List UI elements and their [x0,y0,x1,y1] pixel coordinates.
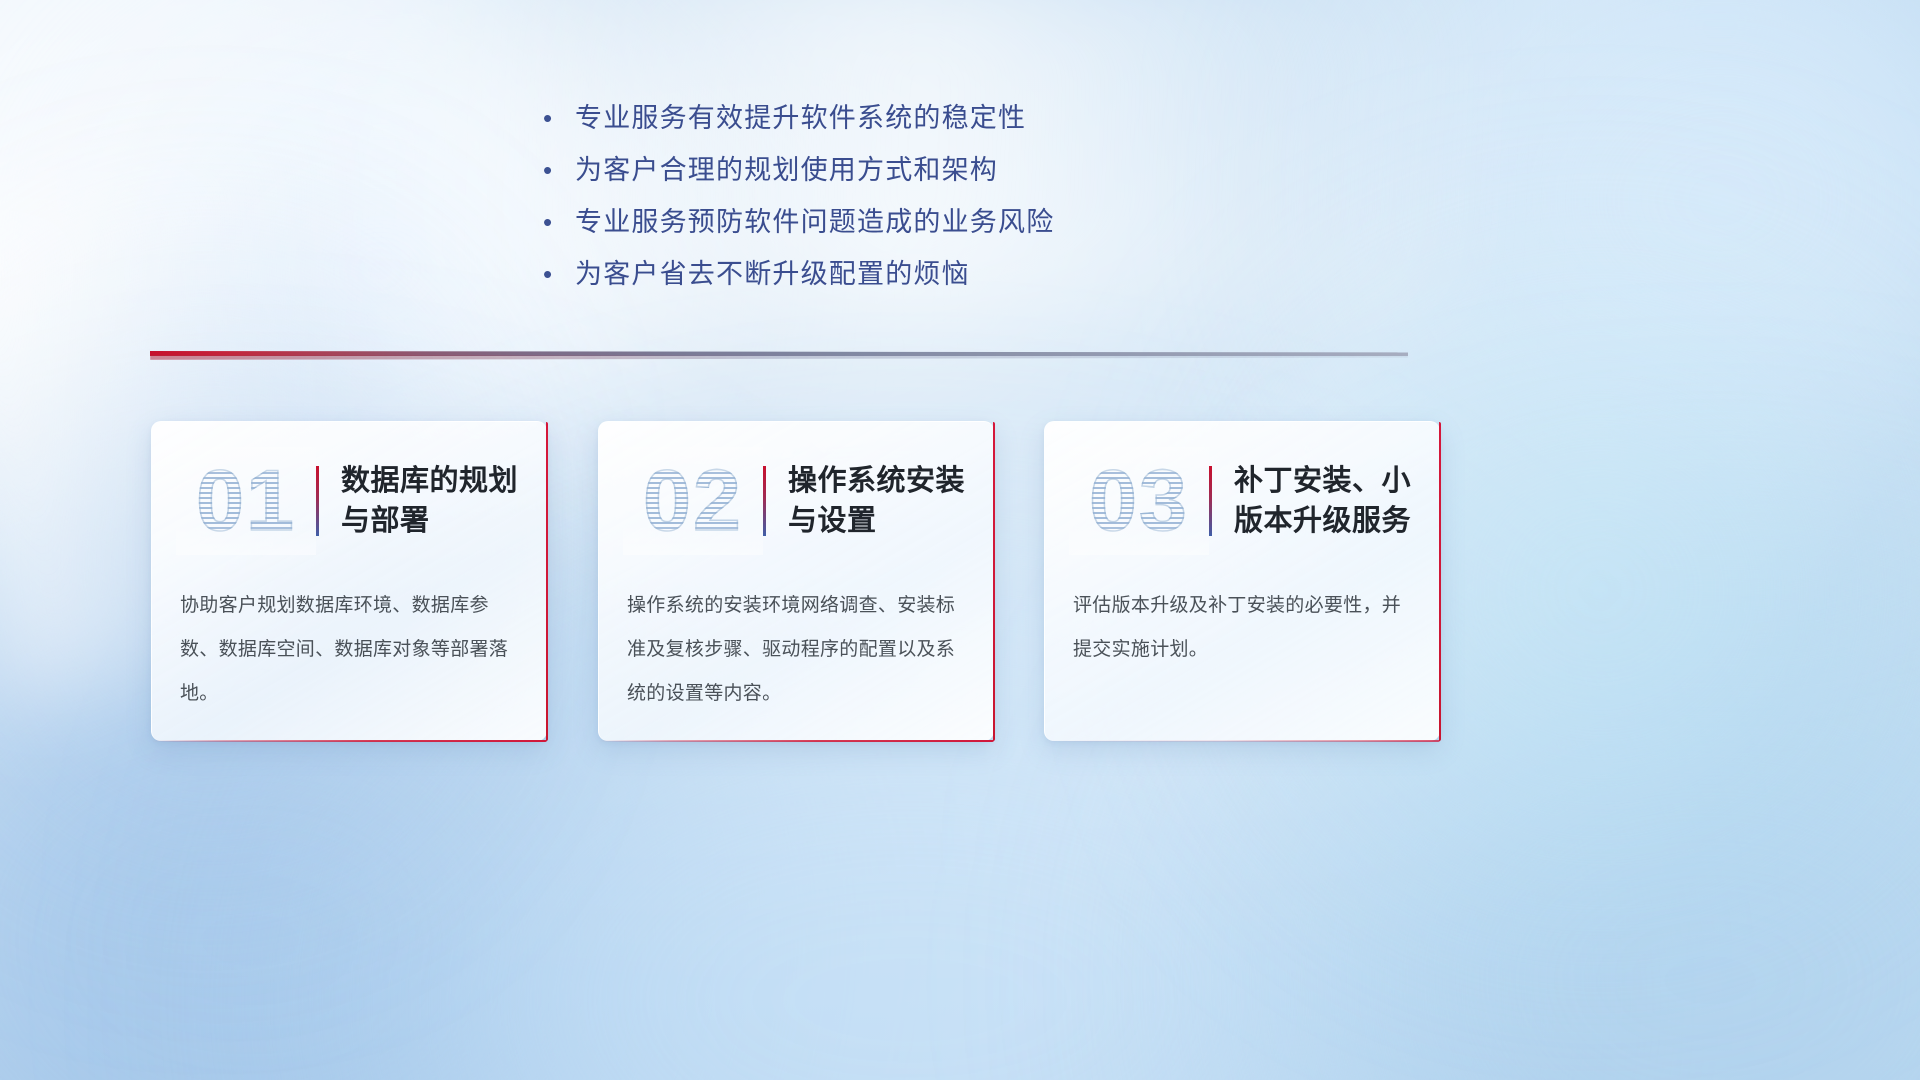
service-card-02[interactable]: 02 操作系统安装与设置 操作系统的安装环境网络调查、安装标准及复核步骤、驱动程… [598,421,994,741]
benefits-bullet-list: • 专业服务有效提升软件系统的稳定性 • 为客户合理的规划使用方式和架构 • 专… [535,92,1235,300]
list-item: • 专业服务预防软件问题造成的业务风险 [535,196,1235,248]
divider-shadow-line [150,355,1408,360]
bullet-text: 为客户省去不断升级配置的烦恼 [575,248,970,300]
bullet-point-icon: • [535,92,575,144]
card-accent-rule [1209,466,1212,536]
card-header: 01 数据库的规划与部署 [152,442,547,560]
card-accent-rule [763,466,766,536]
list-item: • 为客户合理的规划使用方式和架构 [535,144,1235,196]
card-accent-edge-bottom [152,740,547,742]
card-accent-rule [316,466,319,536]
card-number: 03 [1069,447,1209,555]
service-cards-row: 01 数据库的规划与部署 协助客户规划数据库环境、数据库参数、数据库空间、数据库… [0,421,1920,741]
list-item: • 为客户省去不断升级配置的烦恼 [535,248,1235,300]
card-header: 03 补丁安装、小版本升级服务 [1045,442,1440,560]
card-accent-edge-right [1439,422,1441,741]
list-item: • 专业服务有效提升软件系统的稳定性 [535,92,1235,144]
card-number: 02 [623,447,763,555]
card-header: 02 操作系统安装与设置 [599,442,994,560]
card-accent-edge-bottom [1045,740,1440,742]
card-title: 补丁安装、小版本升级服务 [1234,461,1440,541]
card-description: 评估版本升级及补丁安装的必要性，并提交实施计划。 [1073,584,1416,672]
card-description: 协助客户规划数据库环境、数据库参数、数据库空间、数据库对象等部署落地。 [180,584,523,716]
service-card-03[interactable]: 03 补丁安装、小版本升级服务 评估版本升级及补丁安装的必要性，并提交实施计划。 [1044,421,1440,741]
card-number: 01 [176,447,316,555]
card-accent-edge-right [546,422,548,741]
bullet-point-icon: • [535,144,575,196]
card-accent-edge-right [993,422,995,741]
card-title: 数据库的规划与部署 [341,461,547,541]
bullet-text: 专业服务有效提升软件系统的稳定性 [575,92,1026,144]
bullet-point-icon: • [535,248,575,300]
bullet-text: 为客户合理的规划使用方式和架构 [575,144,998,196]
service-card-01[interactable]: 01 数据库的规划与部署 协助客户规划数据库环境、数据库参数、数据库空间、数据库… [151,421,547,741]
bullet-point-icon: • [535,196,575,248]
bullet-text: 专业服务预防软件问题造成的业务风险 [575,196,1054,248]
card-accent-edge-bottom [599,740,994,742]
card-description: 操作系统的安装环境网络调查、安装标准及复核步骤、驱动程序的配置以及系统的设置等内… [627,584,970,716]
section-divider [150,351,1408,361]
card-title: 操作系统安装与设置 [788,461,994,541]
